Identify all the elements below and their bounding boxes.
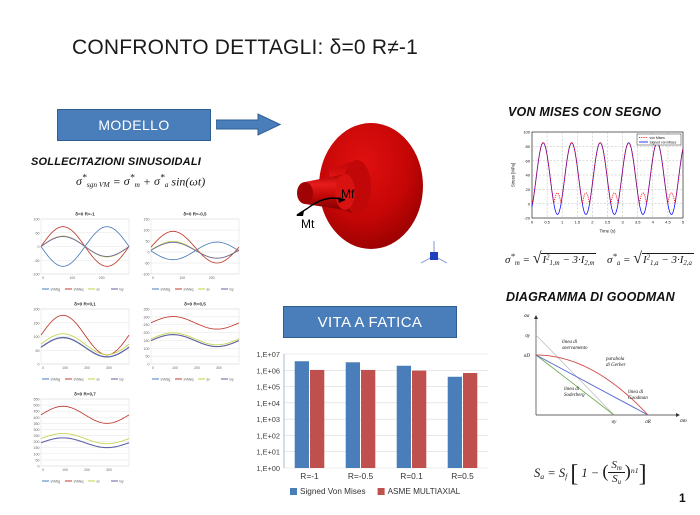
svg-text:Signed Von Mises: Signed Von Mises xyxy=(300,487,366,496)
svg-text:1,E+03: 1,E+03 xyxy=(256,415,280,424)
right-arrow-icon xyxy=(216,112,281,137)
svg-text:450: 450 xyxy=(34,410,40,414)
svg-text:0: 0 xyxy=(38,245,40,249)
svg-text:300: 300 xyxy=(144,315,150,319)
svg-text:50: 50 xyxy=(146,355,150,359)
svg-text:100: 100 xyxy=(34,218,40,222)
svg-text:80: 80 xyxy=(526,144,531,149)
svg-text:200: 200 xyxy=(209,276,215,280)
svg-text:200: 200 xyxy=(84,468,90,472)
svg-text:350: 350 xyxy=(34,422,40,426)
svg-text:100: 100 xyxy=(523,130,530,135)
svg-text:sVMeq: sVMeq xyxy=(184,377,194,381)
mini-chart-svg: δ=0 R=0,75505004504003503002502001501005… xyxy=(24,388,132,485)
svg-text:50: 50 xyxy=(36,458,40,462)
svg-text:250: 250 xyxy=(144,323,150,327)
svg-text:1,E+06: 1,E+06 xyxy=(256,366,280,375)
bar xyxy=(346,362,360,468)
formula-sigma-m: σ*m = √I21,m − 3·I2,m xyxy=(505,250,596,268)
svg-text:sx: sx xyxy=(97,377,101,381)
svg-text:100: 100 xyxy=(62,468,68,472)
svg-text:R=0.1: R=0.1 xyxy=(400,471,423,481)
svg-text:linea di: linea di xyxy=(564,387,580,392)
svg-text:σD: σD xyxy=(524,354,530,359)
von-mises-plot-svg: -2002040608010000.511.522.533.544.55Time… xyxy=(508,125,688,237)
svg-text:100: 100 xyxy=(144,347,150,351)
mini-chart-svg: δ=0 R=0,12001501005000100200300sVMsgsVMe… xyxy=(24,298,132,383)
model-label-mf: Mf xyxy=(341,187,355,201)
svg-text:300: 300 xyxy=(216,366,222,370)
svg-text:σy: σy xyxy=(612,420,617,425)
svg-text:1,E+04: 1,E+04 xyxy=(256,399,280,408)
slide-canvas: CONFRONTO DETTAGLI: δ=0 R≠-1 MODELLO SOL… xyxy=(0,0,700,515)
axis-triad-icon xyxy=(421,241,447,263)
svg-text:Signed von Mises: Signed von Mises xyxy=(650,140,677,144)
svg-text:1.5: 1.5 xyxy=(575,220,581,225)
svg-text:0.5: 0.5 xyxy=(544,220,550,225)
mini-chart-4: δ=0 R=0,75505004504003503002502001501005… xyxy=(24,388,132,485)
svg-text:50: 50 xyxy=(146,240,150,244)
svg-text:txy: txy xyxy=(230,287,234,291)
bar xyxy=(397,366,411,468)
bar xyxy=(310,370,324,468)
formula-sigma-a: σ*a = √I21,a − 3·I2,a xyxy=(607,250,694,268)
svg-text:sVMeq: sVMeq xyxy=(74,287,84,291)
svg-text:250: 250 xyxy=(34,434,40,438)
svg-text:sVMeq: sVMeq xyxy=(184,287,194,291)
mini-chart-2: δ=0 R=0,12001501005000100200300sVMsgsVMe… xyxy=(24,298,132,383)
svg-text:1,E+01: 1,E+01 xyxy=(256,448,280,457)
goodman-diagram: σaσmσyσDσyσRlinea disnervamentoparabolad… xyxy=(506,305,692,453)
svg-text:50: 50 xyxy=(36,231,40,235)
svg-text:sVMsg: sVMsg xyxy=(51,377,61,381)
formula-sinusoidal: σ*sgn VM = σ*m + σ*a sin(ωt) xyxy=(76,173,205,189)
svg-text:δ=0 R=0,7: δ=0 R=0,7 xyxy=(74,392,96,397)
svg-text:200: 200 xyxy=(99,276,105,280)
bar xyxy=(448,377,462,468)
svg-text:ASME MULTIAXIAL: ASME MULTIAXIAL xyxy=(388,487,461,496)
svg-text:sx: sx xyxy=(207,287,211,291)
svg-text:txy: txy xyxy=(120,377,124,381)
svg-text:20: 20 xyxy=(526,187,531,192)
vita-a-fatica-box[interactable]: VITA A FATICA xyxy=(283,306,457,338)
svg-text:300: 300 xyxy=(34,428,40,432)
svg-text:200: 200 xyxy=(34,308,40,312)
svg-text:R=-0.5: R=-0.5 xyxy=(348,471,374,481)
modello-label: MODELLO xyxy=(98,117,169,133)
mini-chart-3: δ=0 R=0,53503002502001501005000100200300… xyxy=(134,298,242,383)
svg-text:350: 350 xyxy=(144,308,150,312)
svg-text:parabola: parabola xyxy=(605,357,625,362)
svg-text:200: 200 xyxy=(144,331,150,335)
svg-text:-100: -100 xyxy=(142,273,149,277)
modello-box[interactable]: MODELLO xyxy=(57,109,211,141)
svg-text:sx: sx xyxy=(207,377,211,381)
svg-text:txy: txy xyxy=(230,377,234,381)
svg-text:snervamento: snervamento xyxy=(562,346,588,351)
svg-text:100: 100 xyxy=(179,276,185,280)
von-mises-chart: -2002040608010000.511.522.533.544.55Time… xyxy=(508,125,688,237)
svg-text:0: 0 xyxy=(148,251,150,255)
bar xyxy=(463,373,477,468)
svg-text:sVMeq: sVMeq xyxy=(74,377,84,381)
svg-text:0: 0 xyxy=(42,366,44,370)
svg-text:50: 50 xyxy=(36,349,40,353)
svg-text:400: 400 xyxy=(34,416,40,420)
svg-text:di Gerber: di Gerber xyxy=(606,363,626,368)
mini-chart-0: δ=0 R=-1100500-50-1000100200sVMsgsVMeqsx… xyxy=(24,208,132,293)
svg-text:300: 300 xyxy=(106,468,112,472)
svg-text:-50: -50 xyxy=(144,262,149,266)
svg-text:-20: -20 xyxy=(524,216,531,221)
svg-text:2.5: 2.5 xyxy=(605,220,611,225)
svg-text:Soderberg: Soderberg xyxy=(564,393,585,398)
svg-text:txy: txy xyxy=(120,479,124,483)
mini-chart-1: δ=0 R=-0,5150100500-50-1000100200sVMsgsV… xyxy=(134,208,242,293)
svg-text:550: 550 xyxy=(34,398,40,402)
svg-text:1,E+05: 1,E+05 xyxy=(256,383,280,392)
svg-text:200: 200 xyxy=(34,440,40,444)
svg-text:sVMeq: sVMeq xyxy=(74,479,84,483)
mini-chart-svg: δ=0 R=0,53503002502001501005000100200300… xyxy=(134,298,242,383)
svg-text:δ=0 R=-0,5: δ=0 R=-0,5 xyxy=(183,212,207,217)
svg-text:sx: sx xyxy=(97,479,101,483)
svg-text:-100: -100 xyxy=(32,273,39,277)
svg-text:200: 200 xyxy=(84,366,90,370)
svg-text:4.5: 4.5 xyxy=(665,220,671,225)
svg-text:sVMsg: sVMsg xyxy=(51,479,61,483)
heading-goodman: DIAGRAMMA DI GOODMAN xyxy=(506,290,675,304)
page-title: CONFRONTO DETTAGLI: δ=0 R≠-1 xyxy=(72,36,418,60)
svg-text:100: 100 xyxy=(62,366,68,370)
svg-text:300: 300 xyxy=(106,366,112,370)
svg-text:1,E+00: 1,E+00 xyxy=(256,464,280,473)
svg-text:-50: -50 xyxy=(34,259,39,263)
svg-text:0: 0 xyxy=(42,468,44,472)
svg-text:150: 150 xyxy=(34,446,40,450)
goodman-diagram-svg: σaσmσyσDσyσRlinea disnervamentoparabolad… xyxy=(506,305,692,453)
svg-text:sVMsg: sVMsg xyxy=(161,287,171,291)
svg-text:100: 100 xyxy=(144,229,150,233)
svg-text:R=-1: R=-1 xyxy=(300,471,319,481)
bar xyxy=(412,371,426,468)
svg-text:von Mises: von Mises xyxy=(650,136,666,140)
model-label-mt: Mt xyxy=(301,217,315,231)
svg-text:Goodman: Goodman xyxy=(628,396,648,401)
svg-text:150: 150 xyxy=(144,218,150,222)
formula-goodman-sa: Sa = Sf [ 1 − (SmSu)n1] xyxy=(534,459,646,488)
svg-text:sVMsg: sVMsg xyxy=(161,377,171,381)
svg-text:δ=0 R=0,5: δ=0 R=0,5 xyxy=(184,302,206,307)
svg-text:0: 0 xyxy=(152,276,154,280)
svg-text:150: 150 xyxy=(34,321,40,325)
heading-von-mises: VON MISES CON SEGNO xyxy=(508,105,661,119)
mini-chart-svg: δ=0 R=-0,5150100500-50-1000100200sVMsgsV… xyxy=(134,208,242,293)
svg-text:40: 40 xyxy=(526,173,531,178)
svg-text:sVMsg: sVMsg xyxy=(51,287,61,291)
svg-text:δ=0 R=0,1: δ=0 R=0,1 xyxy=(74,302,96,307)
svg-text:100: 100 xyxy=(172,366,178,370)
bar xyxy=(295,361,309,468)
mini-chart-svg: δ=0 R=-1100500-50-1000100200sVMsgsVMeqsx… xyxy=(24,208,132,293)
svg-text:0: 0 xyxy=(148,363,150,367)
svg-text:100: 100 xyxy=(34,452,40,456)
svg-text:σa: σa xyxy=(524,313,530,319)
vita-a-fatica-label: VITA A FATICA xyxy=(318,314,423,331)
svg-text:0: 0 xyxy=(152,366,154,370)
svg-text:δ=0 R=-1: δ=0 R=-1 xyxy=(75,212,95,217)
svg-text:0: 0 xyxy=(38,465,40,469)
svg-text:100: 100 xyxy=(69,276,75,280)
svg-text:3.5: 3.5 xyxy=(635,220,641,225)
svg-text:1,E+07: 1,E+07 xyxy=(256,350,280,359)
svg-text:0: 0 xyxy=(38,363,40,367)
svg-text:1,E+02: 1,E+02 xyxy=(256,431,280,440)
svg-text:txy: txy xyxy=(120,287,124,291)
svg-text:σy: σy xyxy=(525,334,530,339)
svg-text:0: 0 xyxy=(42,276,44,280)
bar-chart-svg: 1,E+001,E+011,E+021,E+031,E+041,E+051,E+… xyxy=(246,348,494,508)
svg-text:sx: sx xyxy=(97,287,101,291)
svg-text:linea di: linea di xyxy=(562,340,578,345)
svg-text:60: 60 xyxy=(526,158,531,163)
cad-model-image: Mf Mt xyxy=(283,110,473,290)
bar xyxy=(361,370,375,468)
svg-text:200: 200 xyxy=(194,366,200,370)
svg-text:500: 500 xyxy=(34,404,40,408)
page-number: 1 xyxy=(679,491,686,505)
heading-sollecitazioni: SOLLECITAZIONI SINUSOIDALI xyxy=(31,156,201,168)
svg-text:R=0.5: R=0.5 xyxy=(451,471,474,481)
svg-text:σm: σm xyxy=(680,418,687,424)
svg-text:Time (s): Time (s) xyxy=(600,229,616,234)
svg-text:linea di: linea di xyxy=(628,390,644,395)
svg-text:Stress [MPa]: Stress [MPa] xyxy=(511,163,516,187)
svg-text:100: 100 xyxy=(34,335,40,339)
svg-text:σR: σR xyxy=(645,420,651,425)
svg-text:150: 150 xyxy=(144,339,150,343)
fatigue-life-bar-chart: 1,E+001,E+011,E+021,E+031,E+041,E+051,E+… xyxy=(246,348,494,508)
